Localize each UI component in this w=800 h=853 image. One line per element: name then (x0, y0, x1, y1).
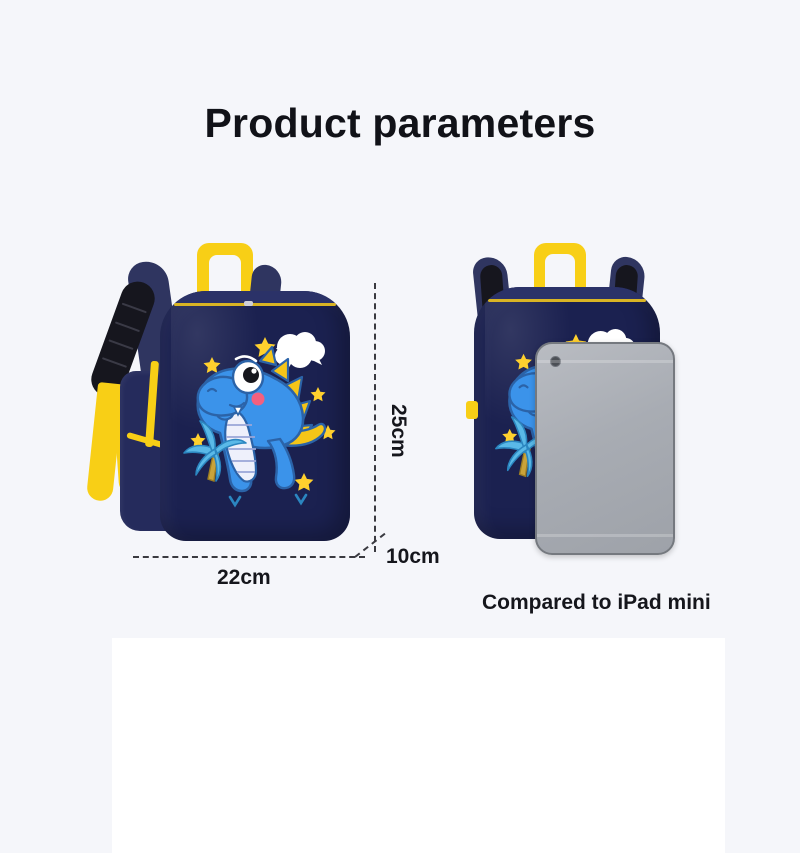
zipper-pull (244, 301, 253, 306)
dimension-label-width: 22cm (217, 566, 271, 590)
zipper-line-right (488, 299, 646, 302)
dimension-line-width (133, 556, 365, 558)
dino-eye (233, 361, 263, 393)
dinosaur-artwork (172, 321, 344, 517)
lid-seam-right (474, 287, 660, 299)
dino-cheek (252, 393, 265, 406)
backpack-left-view (92, 243, 362, 558)
comparison-caption: Compared to iPad mini (482, 591, 711, 615)
dimension-label-depth: 10cm (386, 545, 440, 569)
page-title: Product parameters (0, 100, 800, 147)
backpack-body (160, 291, 350, 541)
dimension-line-height (374, 283, 376, 552)
yellow-side-tab-right (466, 401, 478, 419)
infographic-canvas: Product parameters (0, 0, 800, 800)
zipper-line (174, 303, 336, 306)
backpack-right-view (452, 243, 692, 558)
ground-tick-marks (230, 495, 306, 505)
bottom-white-panel (112, 638, 725, 853)
dimension-label-height: 25cm (386, 404, 410, 458)
tablet-ipad-mini (535, 342, 675, 555)
lid-seam (160, 291, 350, 303)
